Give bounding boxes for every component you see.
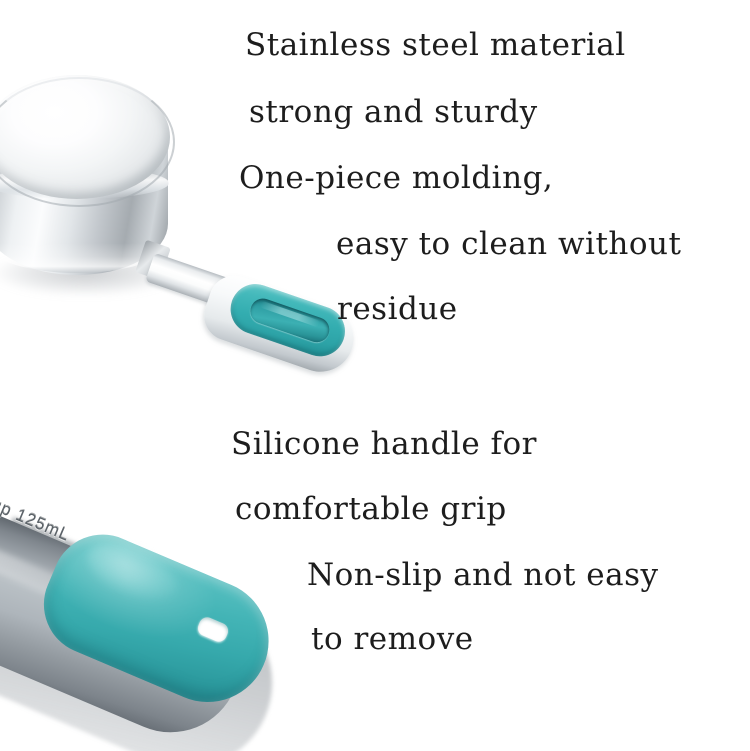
feature-text-line-material-3: One-piece molding, <box>239 163 553 194</box>
feature-text-line-material-4: easy to clean without <box>336 229 681 260</box>
feature-text-line-material-1: Stainless steel material <box>245 30 626 61</box>
feature-text-line-handle-1: Silicone handle for <box>231 429 537 460</box>
feature-text-line-material-5: residue <box>337 294 458 325</box>
feature-text-line-handle-3: Non-slip and not easy <box>307 560 659 591</box>
feature-text-line-material-2: strong and sturdy <box>249 97 538 128</box>
feature-text-line-handle-2: comfortable grip <box>235 494 507 525</box>
feature-text-line-handle-4: to remove <box>311 624 474 655</box>
product-feature-image: up 125mL Stainless steel material strong… <box>0 0 750 751</box>
